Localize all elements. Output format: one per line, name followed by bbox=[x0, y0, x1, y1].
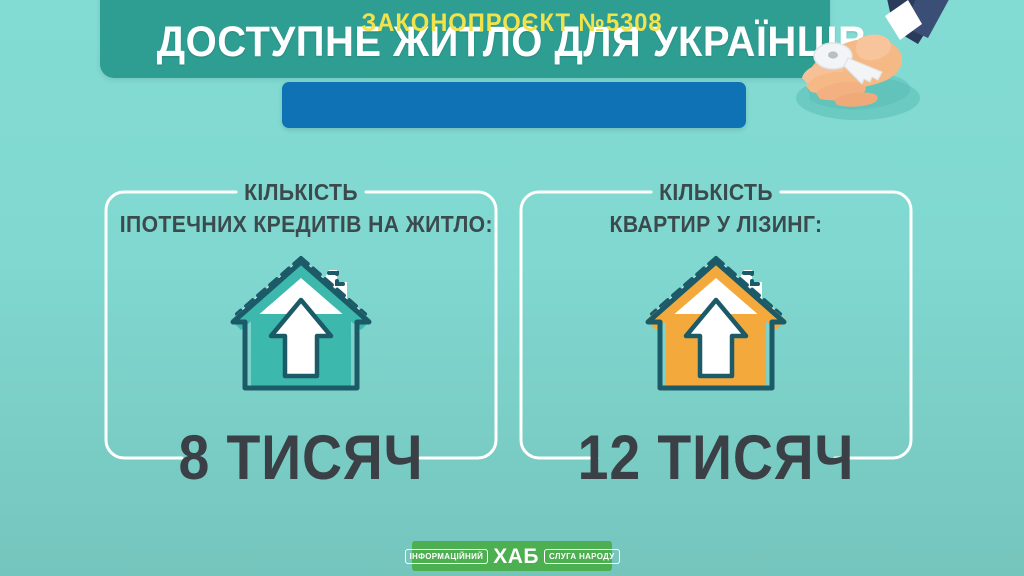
card-value: 12 ТИСЯЧ bbox=[543, 422, 890, 494]
hand-holding-key-illustration bbox=[790, 0, 1024, 154]
subtitle-bar bbox=[282, 82, 746, 128]
logo-party-label: СЛУГА НАРОДУ bbox=[544, 549, 619, 564]
logo-informational-label: ІНФОРМАЦІЙНИЙ bbox=[405, 549, 489, 564]
card-value: 8 ТИСЯЧ bbox=[128, 422, 475, 494]
stat-card-leasing: КІЛЬКІСТЬ КВАРТИР У ЛІЗИНГ: 12 ТИСЯЧ bbox=[519, 190, 913, 460]
infographic-poster: ДОСТУПНЕ ЖИТЛО ДЛЯ УКРАЇНЦІВ ЗАКОНОПРОЄК… bbox=[0, 0, 1024, 576]
footer-logo-badge: ІНФОРМАЦІЙНИЙ ХАБ СЛУГА НАРОДУ bbox=[412, 541, 612, 571]
card-heading-line2: КВАРТИР У ЛІЗИНГ: bbox=[535, 208, 897, 240]
card-heading: КІЛЬКІСТЬ ІПОТЕЧНИХ КРЕДИТІВ НА ЖИТЛО: bbox=[120, 176, 482, 240]
card-heading-line1: КІЛЬКІСТЬ bbox=[659, 179, 773, 205]
card-heading-line2: ІПОТЕЧНИХ КРЕДИТІВ НА ЖИТЛО: bbox=[120, 208, 482, 240]
logo-hab-label: ХАБ bbox=[493, 546, 539, 567]
card-heading-line1: КІЛЬКІСТЬ bbox=[244, 179, 358, 205]
house-with-up-arrow-icon bbox=[519, 252, 913, 407]
card-heading: КІЛЬКІСТЬ КВАРТИР У ЛІЗИНГ: bbox=[535, 176, 897, 240]
stat-card-mortgages: КІЛЬКІСТЬ ІПОТЕЧНИХ КРЕДИТІВ НА ЖИТЛО: bbox=[104, 190, 498, 460]
house-with-up-arrow-icon bbox=[104, 252, 498, 407]
